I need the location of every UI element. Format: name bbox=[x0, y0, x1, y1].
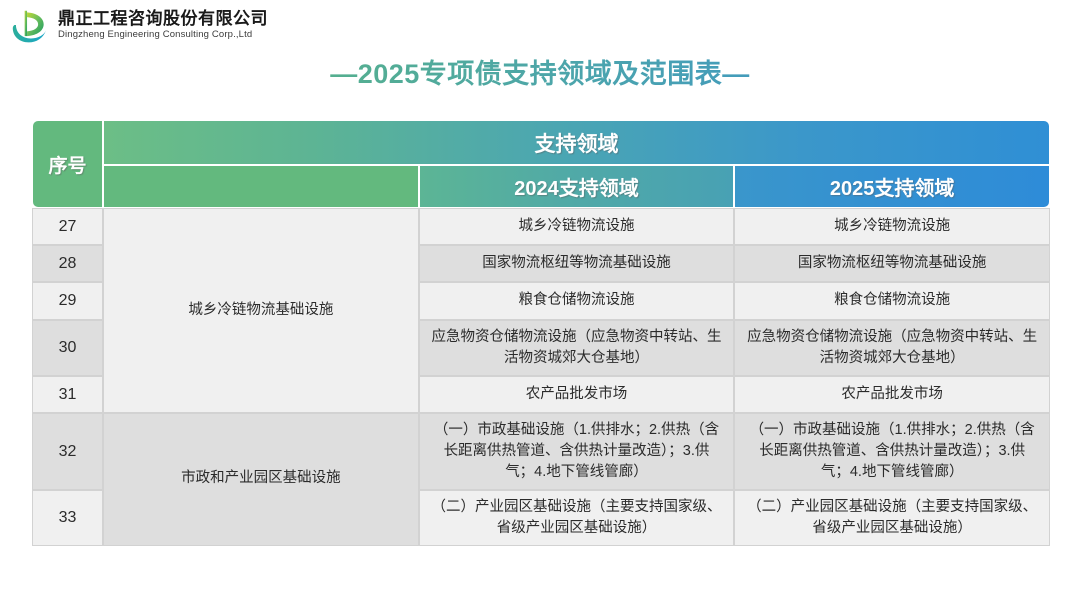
cell-2024-scope: （二）产业园区基础设施（主要支持国家级、省级产业园区基础设施） bbox=[419, 490, 735, 546]
header-row-bottom: 2024支持领域 2025支持领域 bbox=[32, 165, 1050, 208]
header-col-2024: 2024支持领域 bbox=[419, 165, 735, 208]
brand-name-cn: 鼎正工程咨询股份有限公司 bbox=[58, 10, 268, 28]
table-row: 32市政和产业园区基础设施（一）市政基础设施（1.供排水；2.供热（含长距离供热… bbox=[32, 413, 1050, 490]
support-scope-table-wrap: 序号 支持领域 2024支持领域 2025支持领域 27城乡冷链物流基础设施城乡… bbox=[32, 120, 1050, 546]
cell-seq: 30 bbox=[32, 320, 103, 376]
cell-seq: 28 bbox=[32, 245, 103, 282]
cell-seq: 32 bbox=[32, 413, 103, 490]
cell-2025-scope: 应急物资仓储物流设施（应急物资中转站、生活物资城郊大仓基地） bbox=[734, 320, 1050, 376]
table-row: 27城乡冷链物流基础设施城乡冷链物流设施城乡冷链物流设施 bbox=[32, 208, 1050, 245]
support-scope-table: 序号 支持领域 2024支持领域 2025支持领域 27城乡冷链物流基础设施城乡… bbox=[32, 120, 1050, 546]
cell-2024-scope: 农产品批发市场 bbox=[419, 376, 735, 413]
header-category-blank bbox=[103, 165, 419, 208]
cell-seq: 29 bbox=[32, 282, 103, 319]
cell-2024-scope: 应急物资仓储物流设施（应急物资中转站、生活物资城郊大仓基地） bbox=[419, 320, 735, 376]
page-root: 鼎正工程咨询股份有限公司 Dingzheng Engineering Consu… bbox=[0, 0, 1080, 607]
cell-2024-scope: （一）市政基础设施（1.供排水；2.供热（含长距离供热管道、含供热计量改造）；3… bbox=[419, 413, 735, 490]
brand-logo: 鼎正工程咨询股份有限公司 Dingzheng Engineering Consu… bbox=[12, 6, 268, 44]
header-col-2025: 2025支持领域 bbox=[734, 165, 1050, 208]
dingzheng-logo-icon bbox=[12, 6, 50, 44]
cell-2024-scope: 粮食仓储物流设施 bbox=[419, 282, 735, 319]
cell-2024-scope: 城乡冷链物流设施 bbox=[419, 208, 735, 245]
brand-name-en: Dingzheng Engineering Consulting Corp.,L… bbox=[58, 30, 268, 40]
cell-2024-scope: 国家物流枢纽等物流基础设施 bbox=[419, 245, 735, 282]
cell-2025-scope: 农产品批发市场 bbox=[734, 376, 1050, 413]
cell-seq: 33 bbox=[32, 490, 103, 546]
header-seq: 序号 bbox=[32, 120, 103, 208]
cell-2025-scope: （二）产业园区基础设施（主要支持国家级、省级产业园区基础设施） bbox=[734, 490, 1050, 546]
header-row-top: 序号 支持领域 bbox=[32, 120, 1050, 165]
table-head: 序号 支持领域 2024支持领域 2025支持领域 bbox=[32, 120, 1050, 208]
header-support-scope: 支持领域 bbox=[103, 120, 1050, 165]
brand-text: 鼎正工程咨询股份有限公司 Dingzheng Engineering Consu… bbox=[58, 10, 268, 41]
cell-seq: 31 bbox=[32, 376, 103, 413]
cell-2025-scope: 城乡冷链物流设施 bbox=[734, 208, 1050, 245]
cell-seq: 27 bbox=[32, 208, 103, 245]
cell-category: 市政和产业园区基础设施 bbox=[103, 413, 419, 546]
cell-category: 城乡冷链物流基础设施 bbox=[103, 208, 419, 413]
cell-2025-scope: （一）市政基础设施（1.供排水；2.供热（含长距离供热管道、含供热计量改造）；3… bbox=[734, 413, 1050, 490]
cell-2025-scope: 粮食仓储物流设施 bbox=[734, 282, 1050, 319]
cell-2025-scope: 国家物流枢纽等物流基础设施 bbox=[734, 245, 1050, 282]
table-body: 27城乡冷链物流基础设施城乡冷链物流设施城乡冷链物流设施28国家物流枢纽等物流基… bbox=[32, 208, 1050, 546]
page-title: —2025专项债支持领域及范围表— bbox=[0, 52, 1080, 91]
